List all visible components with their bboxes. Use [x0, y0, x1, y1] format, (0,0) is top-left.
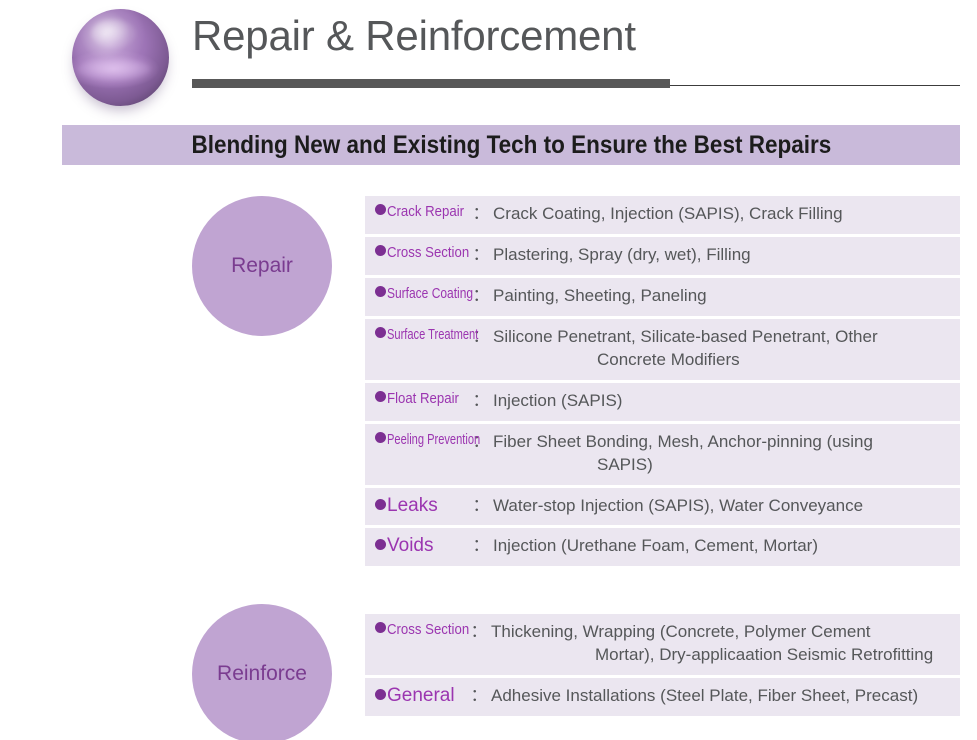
row-description-line1: Injection (Urethane Foam, Cement, Mortar… [493, 536, 818, 555]
table-row[interactable]: Surface Treatment ： Silicone Penetrant, … [365, 319, 960, 380]
slide-root: Repair & Reinforcement Blending New and … [0, 0, 977, 740]
row-description-line1: Painting, Sheeting, Paneling [493, 286, 707, 305]
row-description-line2: SAPIS) [493, 454, 950, 477]
slide-header: Repair & Reinforcement [0, 0, 977, 112]
row-label-group: Cross Section [375, 621, 469, 638]
row-description-line1: Plastering, Spray (dry, wet), Filling [493, 245, 751, 264]
row-label: Cross Section [387, 244, 469, 261]
row-colon: ： [469, 685, 489, 708]
row-label: Peeling Prevention [387, 431, 480, 448]
table-row[interactable]: Peeling Prevention ： Fiber Sheet Bonding… [365, 424, 960, 485]
row-label-group: Crack Repair [375, 203, 471, 220]
row-colon: ： [469, 621, 489, 644]
row-colon: ： [471, 244, 491, 267]
row-label-group: Surface Treatment [375, 326, 471, 343]
row-description: Injection (SAPIS) [491, 390, 950, 413]
bullet-icon [375, 327, 386, 338]
table-row[interactable]: Surface Coating ： Painting, Sheeting, Pa… [365, 278, 960, 316]
bullet-icon [375, 539, 386, 550]
row-description: Plastering, Spray (dry, wet), Filling [491, 244, 950, 267]
row-description: Injection (Urethane Foam, Cement, Mortar… [491, 535, 950, 558]
row-colon: ： [471, 203, 491, 226]
bullet-icon [375, 245, 386, 256]
row-list-repair: Crack Repair ： Crack Coating, Injection … [365, 196, 960, 569]
row-description: Painting, Sheeting, Paneling [491, 285, 950, 308]
row-description-line2: Mortar), Dry-applicaation Seismic Retrof… [491, 644, 950, 667]
row-description-line1: Crack Coating, Injection (SAPIS), Crack … [493, 204, 843, 223]
row-colon: ： [471, 495, 491, 518]
row-description-line1: Fiber Sheet Bonding, Mesh, Anchor-pinnin… [493, 432, 873, 451]
row-description: Water-stop Injection (SAPIS), Water Conv… [491, 495, 950, 518]
row-label-group: Peeling Prevention [375, 431, 471, 448]
group-circle-reinforce-label: Reinforce [217, 662, 307, 686]
row-description: Fiber Sheet Bonding, Mesh, Anchor-pinnin… [491, 431, 950, 477]
table-row[interactable]: Crack Repair ： Crack Coating, Injection … [365, 196, 960, 234]
row-colon: ： [471, 390, 491, 413]
row-label-group: General [375, 685, 469, 707]
row-description-line1: Water-stop Injection (SAPIS), Water Conv… [493, 496, 863, 515]
table-row[interactable]: Leaks ： Water-stop Injection (SAPIS), Wa… [365, 488, 960, 526]
page-title: Repair & Reinforcement [192, 12, 636, 60]
row-description: Thickening, Wrapping (Concrete, Polymer … [489, 621, 950, 667]
row-label-group: Voids [375, 535, 471, 557]
table-row[interactable]: Cross Section ： Thickening, Wrapping (Co… [365, 614, 960, 675]
bullet-icon [375, 432, 386, 443]
bullet-icon [375, 622, 386, 633]
row-label: Cross Section [387, 621, 469, 638]
row-description-line1: Adhesive Installations (Steel Plate, Fib… [491, 686, 918, 705]
subtitle-banner: Blending New and Existing Tech to Ensure… [62, 125, 960, 165]
table-row[interactable]: Voids ： Injection (Urethane Foam, Cement… [365, 528, 960, 566]
row-description-line1: Silicone Penetrant, Silicate-based Penet… [493, 327, 878, 346]
group-circle-repair: Repair [192, 196, 332, 336]
row-label: Leaks [387, 495, 438, 517]
table-row[interactable]: Cross Section ： Plastering, Spray (dry, … [365, 237, 960, 275]
row-label-group: Surface Coating [375, 285, 471, 302]
row-description-line1: Thickening, Wrapping (Concrete, Polymer … [491, 622, 871, 641]
row-description-line2: Concrete Modifiers [493, 349, 950, 372]
row-label: Voids [387, 535, 433, 557]
subtitle-banner-text: Blending New and Existing Tech to Ensure… [191, 131, 831, 160]
row-label: Crack Repair [387, 203, 464, 220]
row-description: Silicone Penetrant, Silicate-based Penet… [491, 326, 950, 372]
sphere-band-icon [78, 59, 150, 78]
header-rule-thick [192, 79, 670, 88]
row-label-group: Leaks [375, 495, 471, 517]
row-label-group: Cross Section [375, 244, 471, 261]
row-list-reinforce: Cross Section ： Thickening, Wrapping (Co… [365, 614, 960, 719]
row-description: Crack Coating, Injection (SAPIS), Crack … [491, 203, 950, 226]
row-description-line1: Injection (SAPIS) [493, 391, 622, 410]
row-description: Adhesive Installations (Steel Plate, Fib… [489, 685, 950, 708]
group-circle-repair-label: Repair [231, 254, 293, 278]
sphere-highlight-icon [91, 19, 136, 48]
row-label: Surface Coating [387, 285, 473, 302]
row-label: General [387, 685, 455, 707]
row-label-group: Float Repair [375, 390, 471, 407]
bullet-icon [375, 499, 386, 510]
table-row[interactable]: General ： Adhesive Installations (Steel … [365, 678, 960, 716]
bullet-icon [375, 286, 386, 297]
table-row[interactable]: Float Repair ： Injection (SAPIS) [365, 383, 960, 421]
bullet-icon [375, 204, 386, 215]
group-circle-reinforce: Reinforce [192, 604, 332, 740]
row-colon: ： [471, 285, 491, 308]
row-label: Surface Treatment [387, 326, 478, 343]
purple-sphere-icon [72, 9, 169, 106]
bullet-icon [375, 689, 386, 700]
row-colon: ： [471, 535, 491, 558]
bullet-icon [375, 391, 386, 402]
row-label: Float Repair [387, 390, 459, 407]
